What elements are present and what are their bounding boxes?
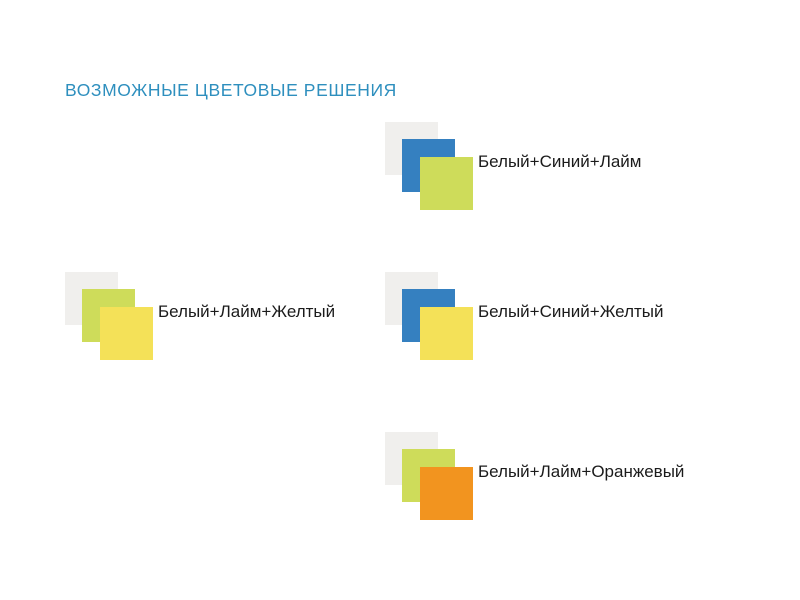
color-scheme-label: Белый+Синий+Желтый: [478, 301, 664, 323]
color-scheme-option[interactable]: Белый+Лайм+Желтый: [65, 272, 405, 367]
swatch-stack: [65, 272, 155, 360]
swatch-stack: [385, 272, 475, 360]
swatch-lime: [420, 157, 473, 210]
swatch-stack: [385, 432, 475, 520]
color-scheme-label: Белый+Лайм+Желтый: [158, 301, 335, 323]
page-title: ВОЗМОЖНЫЕ ЦВЕТОВЫЕ РЕШЕНИЯ: [65, 80, 397, 102]
color-scheme-label: Белый+Синий+Лайм: [478, 151, 641, 173]
color-scheme-option[interactable]: Белый+Синий+Лайм: [385, 122, 725, 217]
swatch-yellow: [100, 307, 153, 360]
color-scheme-option[interactable]: Белый+Лайм+Оранжевый: [385, 432, 725, 527]
slide-canvas: ВОЗМОЖНЫЕ ЦВЕТОВЫЕ РЕШЕНИЯ Белый+Синий+Л…: [0, 0, 800, 600]
color-scheme-label: Белый+Лайм+Оранжевый: [478, 461, 684, 483]
color-scheme-option[interactable]: Белый+Синий+Желтый: [385, 272, 725, 367]
swatch-stack: [385, 122, 475, 210]
swatch-yellow: [420, 307, 473, 360]
swatch-orange: [420, 467, 473, 520]
